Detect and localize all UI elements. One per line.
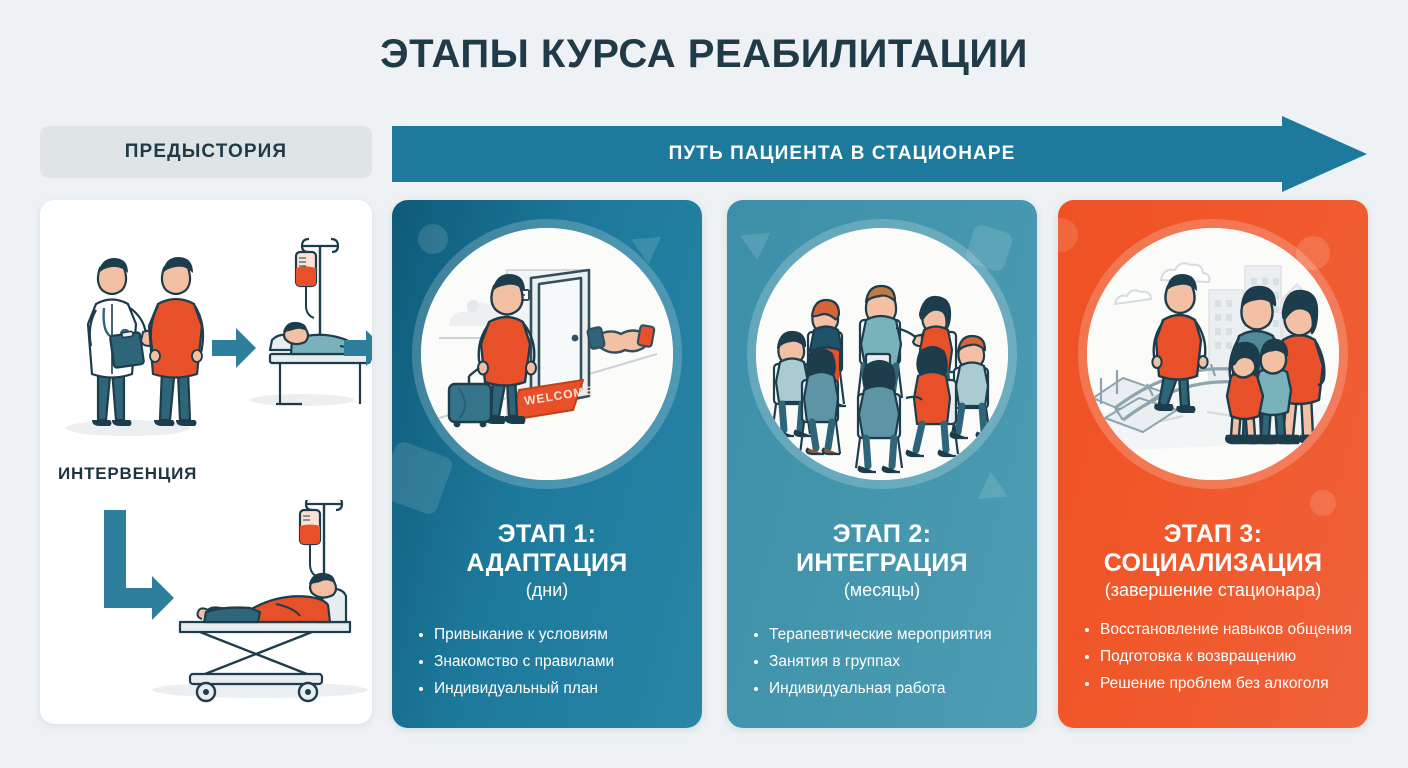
decor-circle — [1310, 490, 1336, 516]
decor-circle — [418, 224, 448, 254]
card-1-title-line1: ЭТАП 1: — [392, 520, 702, 549]
prehistory-panel: ИНТЕРВЕНЦИЯ ДЕТОКСИКАЦИЯ — [40, 200, 372, 724]
list-item: Решение проблем без алкоголя — [1100, 674, 1352, 694]
list-item: Индивидуальная работа — [769, 678, 1021, 700]
list-item: Индивидуальный план — [434, 678, 686, 700]
page-title: ЭТАПЫ КУРСА РЕАБИЛИТАЦИИ — [0, 32, 1408, 77]
prehistory-label: ПРЕДЫСТОРИЯ — [125, 141, 287, 163]
card-2-bullets: Терапевтические мероприятия Занятия в гр… — [753, 624, 1021, 705]
card-2-subtitle: (месяцы) — [727, 579, 1037, 602]
card-2-title: ЭТАП 2: ИНТЕГРАЦИЯ (месяцы) — [727, 520, 1037, 602]
stage-card-3[interactable]: ЭТАП 3: СОЦИАЛИЗАЦИЯ (завершение стацион… — [1058, 200, 1368, 728]
list-item: Знакомство с правилами — [434, 651, 686, 673]
group-therapy-illustration — [756, 228, 1008, 480]
card-3-medallion — [1087, 228, 1339, 480]
decor-circle — [1058, 218, 1078, 252]
prehistory-banner: ПРЕДЫСТОРИЯ — [40, 126, 372, 178]
card-1-title-line2: АДАПТАЦИЯ — [392, 549, 702, 578]
decor-triangle — [625, 226, 661, 264]
journey-arrow-banner: ПУТЬ ПАЦИЕНТА В СТАЦИОНАРЕ — [392, 116, 1367, 192]
card-1-subtitle: (дни) — [392, 579, 702, 602]
welcome-door-illustration: WELCOME — [421, 228, 673, 480]
list-item: Привыкание к условиям — [434, 624, 686, 646]
card-1-bullets: Привыкание к условиям Знакомство с прави… — [418, 624, 686, 705]
card-1-medallion: WELCOME — [421, 228, 673, 480]
card-3-title-line1: ЭТАП 3: — [1058, 520, 1368, 549]
list-item: Терапевтические мероприятия — [769, 624, 1021, 646]
list-item: Подготовка к возвращению — [1100, 647, 1352, 667]
journey-label: ПУТЬ ПАЦИЕНТА В СТАЦИОНАРЕ — [392, 116, 1292, 192]
card-3-title: ЭТАП 3: СОЦИАЛИЗАЦИЯ (завершение стацион… — [1058, 520, 1368, 602]
card-1-title: ЭТАП 1: АДАПТАЦИЯ (дни) — [392, 520, 702, 602]
intervention-label: ИНТЕРВЕНЦИЯ — [58, 464, 197, 484]
decor-triangle — [978, 472, 1014, 510]
card-2-title-line2: ИНТЕГРАЦИЯ — [727, 549, 1037, 578]
list-item: Восстановление навыков общения — [1100, 620, 1352, 640]
card-3-bullets: Восстановление навыков общения Подготовк… — [1084, 620, 1352, 701]
flow-arrow-icon — [212, 328, 256, 368]
intervention-illustration — [40, 228, 372, 488]
card-3-title-line2: СОЦИАЛИЗАЦИЯ — [1058, 549, 1368, 578]
bridge-to-family-illustration — [1087, 228, 1339, 480]
card-2-title-line1: ЭТАП 2: — [727, 520, 1037, 549]
elbow-arrow-icon — [104, 510, 174, 620]
infographic-canvas: ЭТАПЫ КУРСА РЕАБИЛИТАЦИИ ПРЕДЫСТОРИЯ ПУТ… — [0, 0, 1408, 768]
card-2-medallion — [756, 228, 1008, 480]
decor-square — [392, 440, 454, 517]
detox-illustration — [40, 500, 372, 720]
list-item: Занятия в группах — [769, 651, 1021, 673]
decor-triangle — [734, 222, 770, 260]
stage-card-2[interactable]: ЭТАП 2: ИНТЕГРАЦИЯ (месяцы) Терапевтичес… — [727, 200, 1037, 728]
stage-card-1[interactable]: WELCOME — [392, 200, 702, 728]
card-3-subtitle: (завершение стационара) — [1058, 579, 1368, 602]
